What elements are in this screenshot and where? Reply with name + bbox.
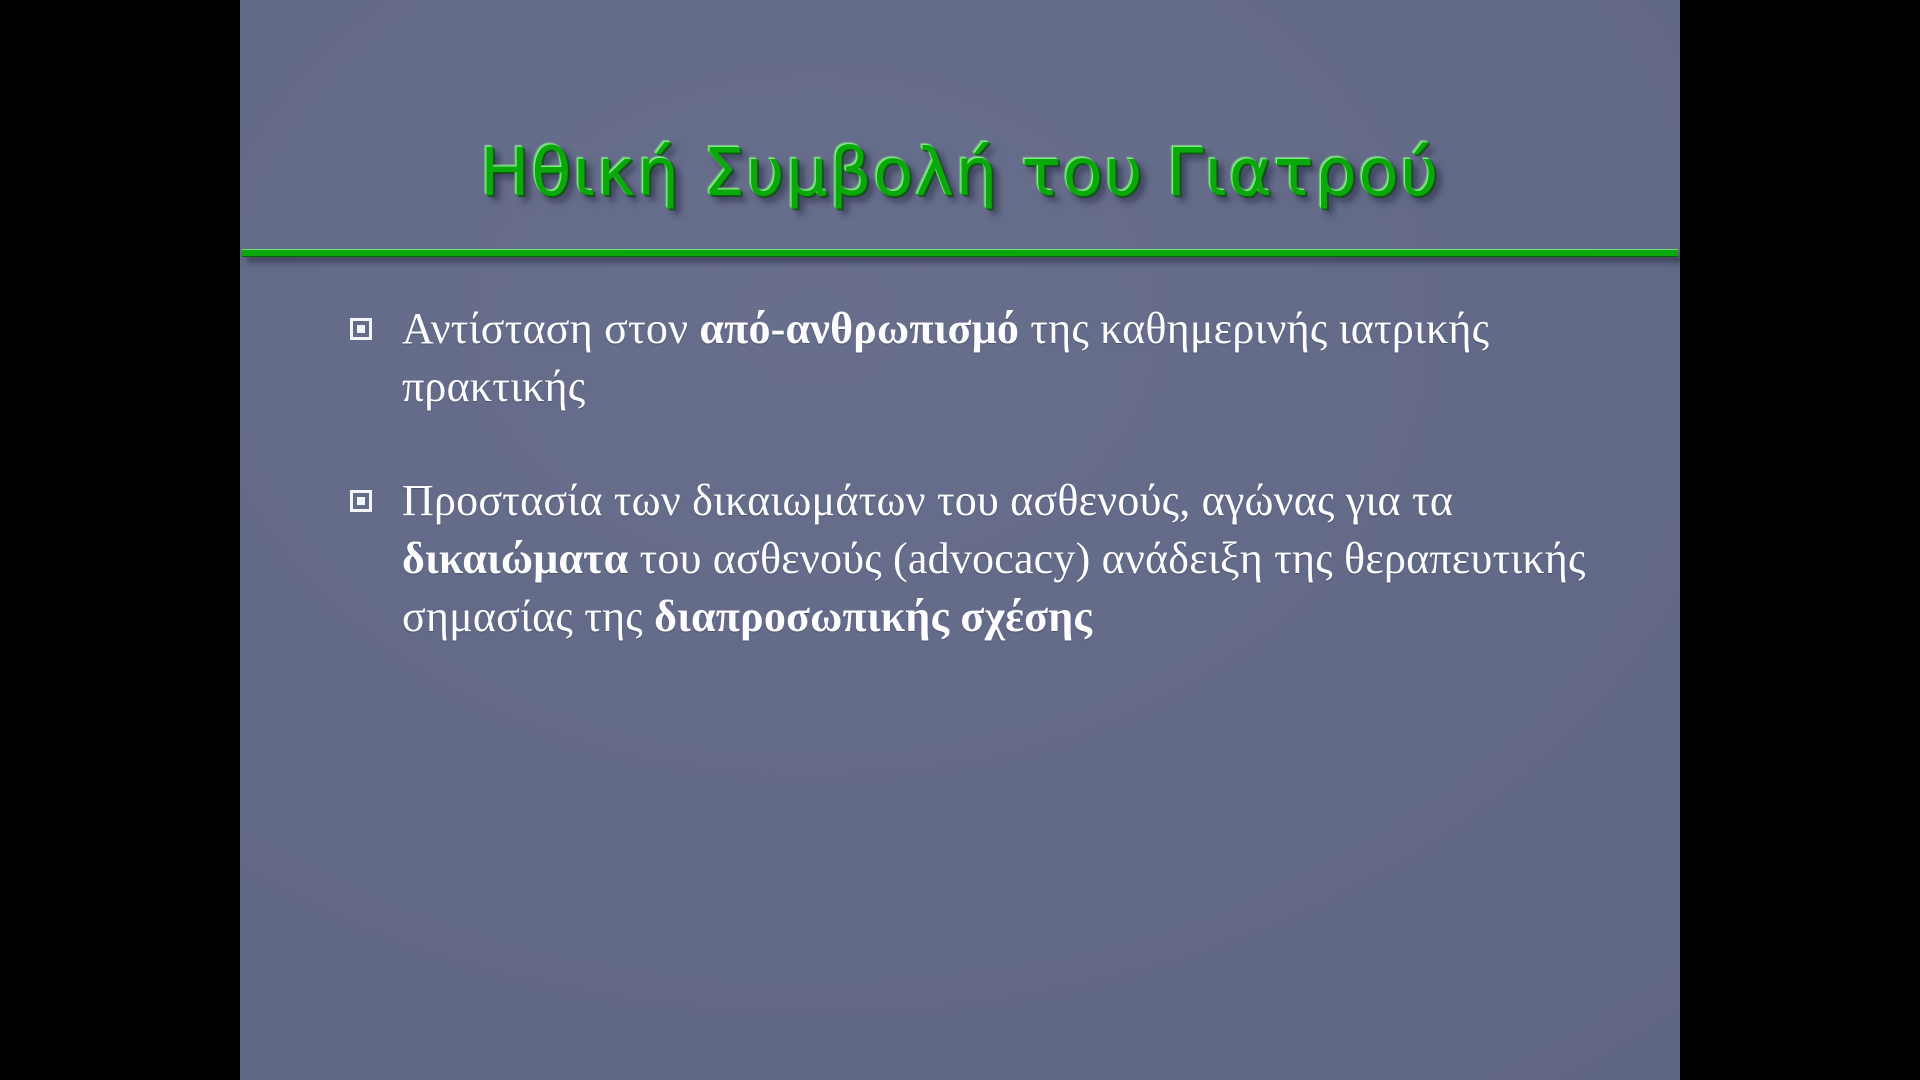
bullet-text-2: Προστασία των δικαιωμάτων του ασθενούς, … [402, 472, 1630, 646]
square-bullet-icon [350, 490, 372, 512]
bullet-item-2: Προστασία των δικαιωμάτων του ασθενούς, … [350, 472, 1630, 646]
bullet-text-1: Αντίσταση στον από-ανθρωπισμό της καθημε… [402, 300, 1630, 416]
letterbox-bar-left [0, 0, 240, 1080]
slide-canvas: Ηθική Συμβολή του Γιατρού Αντίσταση στον… [240, 0, 1680, 1080]
slide-title: Ηθική Συμβολή του Γιατρού [480, 140, 1440, 210]
title-block: Ηθική Συμβολή του Γιατρού [240, 96, 1680, 254]
title-underline [242, 250, 1678, 256]
square-bullet-icon [350, 318, 372, 340]
bullet-item-1: Αντίσταση στον από-ανθρωπισμό της καθημε… [350, 300, 1630, 416]
presentation-slide: Ηθική Συμβολή του Γιατρού Αντίσταση στον… [0, 0, 1920, 1080]
letterbox-bar-right [1680, 0, 1920, 1080]
bullet-list: Αντίσταση στον από-ανθρωπισμό της καθημε… [350, 300, 1630, 646]
